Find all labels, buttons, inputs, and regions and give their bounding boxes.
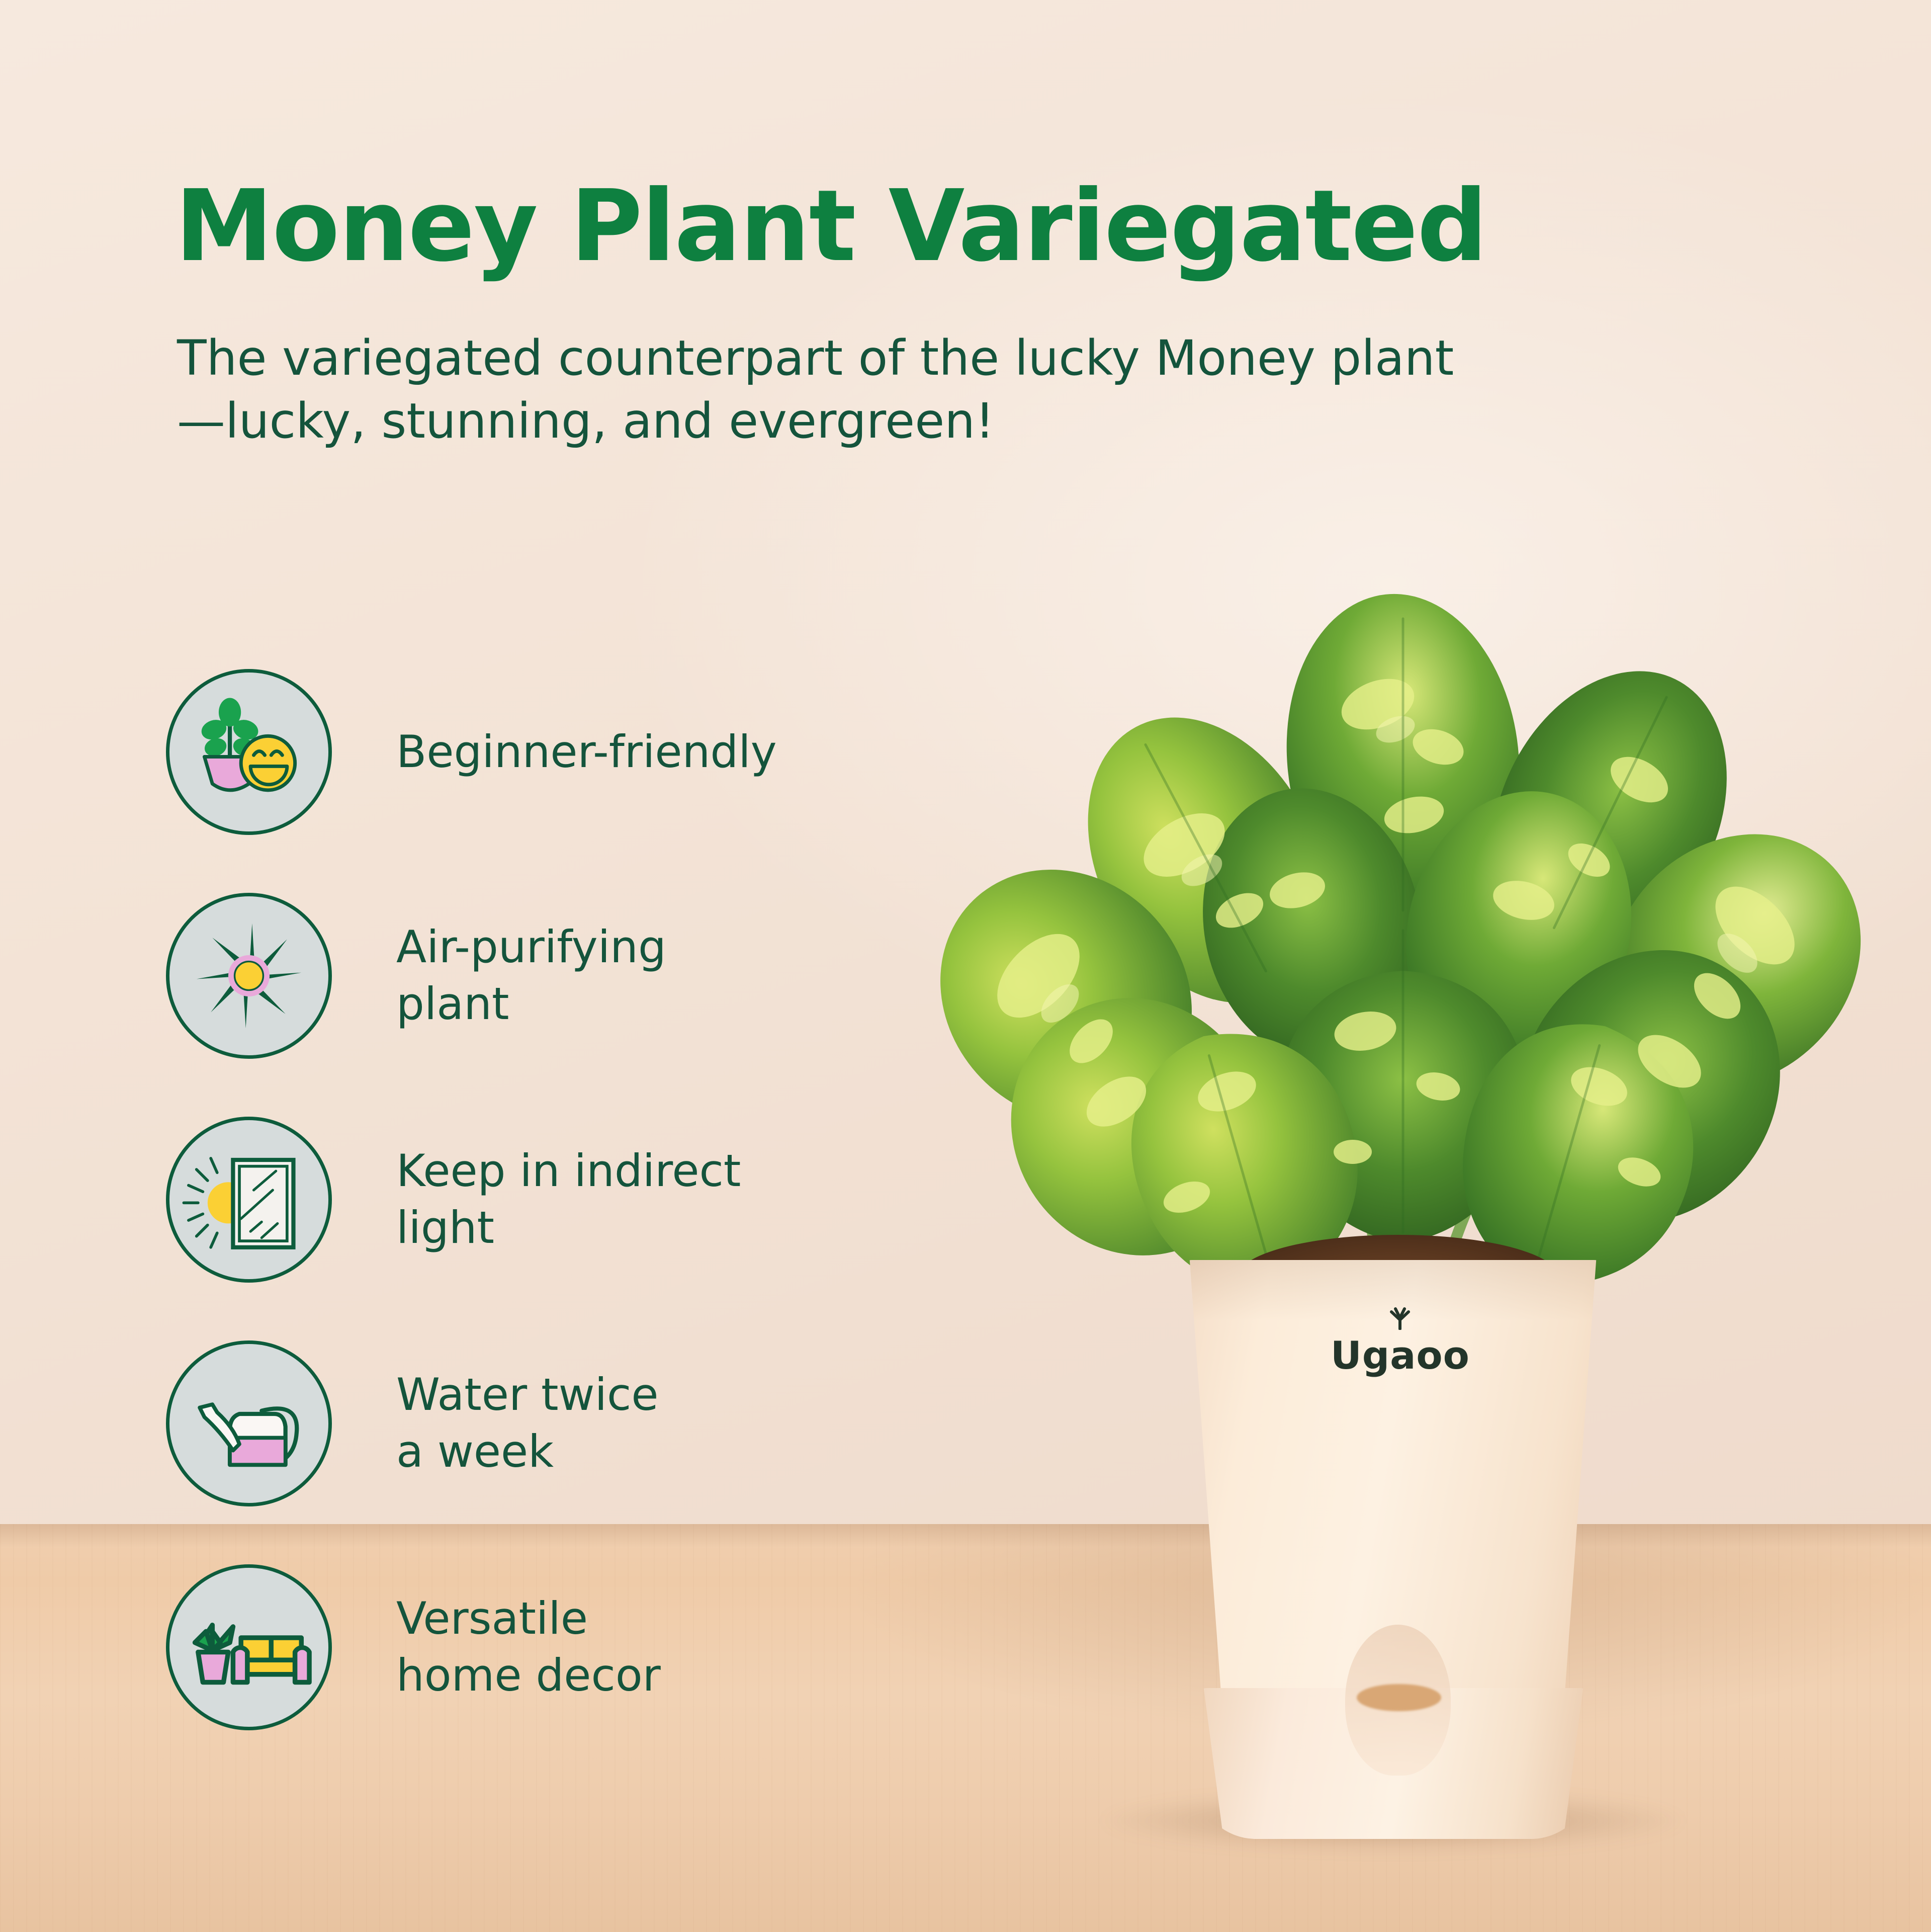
sun-window-icon (166, 1117, 332, 1283)
feature-item-watering: Water twice a week (166, 1340, 920, 1506)
plant-smiley-icon (166, 669, 332, 835)
feature-label: Water twice a week (396, 1367, 659, 1480)
pot-water-notch-hole (1357, 1684, 1441, 1711)
feature-label: Versatile home decor (396, 1590, 661, 1704)
product-infographic-poster: Money Plant Variegated The variegated co… (0, 0, 1931, 1932)
air-purify-star-icon (166, 893, 332, 1059)
plant-sofa-icon (166, 1564, 332, 1730)
page-subtitle: The variegated counterpart of the lucky … (177, 327, 1495, 453)
feature-label: Air-purifying plant (396, 919, 666, 1032)
money-plant-variegated-leaves (784, 578, 1931, 1333)
feature-label: Beginner-friendly (396, 724, 777, 781)
feature-label: Keep in indirect light (396, 1143, 741, 1256)
brand-logo: Ugaoo (1331, 1307, 1470, 1378)
page-title: Money Plant Variegated (175, 177, 1486, 276)
feature-item-home-decor: Versatile home decor (166, 1564, 920, 1730)
sprout-icon (1384, 1307, 1416, 1331)
brand-name: Ugaoo (1331, 1333, 1470, 1378)
watering-can-icon (166, 1340, 332, 1506)
